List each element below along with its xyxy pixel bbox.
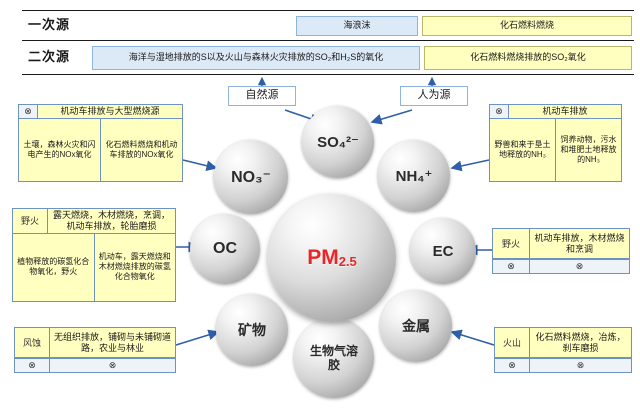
sphere-pm25-center[interactable]: PM2.5 <box>268 194 396 322</box>
panel-mineral-header: 风蚀 无组织排放，铺砌与未铺砌道路，农业与林业 <box>15 328 175 358</box>
secondary-source-so2-oxidation[interactable]: 化石燃料燃烧排放的SO₂氧化 <box>424 46 632 70</box>
sphere-no3-label: NO₃⁻ <box>231 167 271 187</box>
panel-nh4-cell-natural: 野兽和来于垦土地释放的NH₃ <box>490 119 556 181</box>
panel-mineral-xrow: ⊗ ⊗ <box>15 358 175 372</box>
panel-oc[interactable]: 野火 露天燃烧，木材燃烧，烹调，机动车排放，轮胎磨损 植物释放的碳氢化合物氧化，… <box>12 208 176 302</box>
panel-oc-title: 露天燃烧，木材燃烧，烹调，机动车排放，轮胎磨损 <box>48 209 175 233</box>
panel-metal-title: 化石燃料燃烧，冶炼，刹车磨损 <box>530 328 631 357</box>
panel-mineral[interactable]: 风蚀 无组织排放，铺砌与未铺砌道路，农业与林业 ⊗ ⊗ <box>14 327 176 373</box>
panel-no3-body: 土壤，森林火灾和闪电产生的NOx氧化 化石燃料燃烧和机动车排放的NOx氧化 <box>19 119 182 181</box>
panel-no3-title: 机动车排放与大型燃烧源 <box>38 105 182 118</box>
diagram-canvas: 一次源 二次源 海浪沫 化石燃料燃烧 海洋与湿地排放的S以及火山与森林火灾排放的… <box>0 0 640 412</box>
panel-metal-x-right: ⊗ <box>530 359 631 372</box>
primary-source-fossil-fuel[interactable]: 化石燃料燃烧 <box>422 16 632 36</box>
panel-no3-x-icon: ⊗ <box>19 105 38 118</box>
panel-no3-header: ⊗ 机动车排放与大型燃烧源 <box>19 105 182 119</box>
sphere-bioaerosol[interactable]: 生物气溶胶 <box>294 318 374 398</box>
panel-ec-header: 野火 机动车排放，木材燃烧和烹调 <box>493 229 629 259</box>
panel-oc-header: 野火 露天燃烧，木材燃烧，烹调，机动车排放，轮胎磨损 <box>13 209 175 234</box>
pm25-main: PM <box>307 246 339 269</box>
sphere-nh4-label: NH₄⁺ <box>396 167 433 185</box>
sphere-nh4[interactable]: NH₄⁺ <box>378 140 450 212</box>
panel-nh4[interactable]: ⊗ 机动车排放 野兽和来于垦土地释放的NH₃ 饲养动物，污水和堆肥土地释放的NH… <box>489 104 622 182</box>
divider-top <box>22 10 634 11</box>
panel-oc-cell-anthropogenic: 机动车，露天燃烧和木材燃烧排放的碳氢化合物氧化 <box>95 234 176 301</box>
panel-ec-title: 机动车排放，木材燃烧和烹调 <box>530 229 629 258</box>
panel-metal-x-left: ⊗ <box>495 359 530 372</box>
sphere-oc-label: OC <box>213 240 237 258</box>
sphere-metal[interactable]: 金属 <box>380 290 452 362</box>
panel-oc-body: 植物释放的碳氢化合物氧化，野火 机动车，露天燃烧和木材燃烧排放的碳氢化合物氧化 <box>13 234 175 301</box>
secondary-source-ocean-wetland[interactable]: 海洋与湿地排放的S以及火山与森林火灾排放的SO₂和H₂S的氧化 <box>92 46 420 70</box>
sphere-ec[interactable]: EC <box>410 218 476 284</box>
panel-ec-header-label: 野火 <box>493 229 530 258</box>
sphere-so4[interactable]: SO₄²⁻ <box>302 106 374 178</box>
panel-ec[interactable]: 野火 机动车排放，木材燃烧和烹调 ⊗ ⊗ <box>492 228 630 274</box>
panel-nh4-title: 机动车排放 <box>509 105 621 118</box>
sphere-metal-label: 金属 <box>402 316 430 336</box>
panel-metal-header-label: 火山 <box>495 328 530 357</box>
primary-source-sea-spray[interactable]: 海浪沫 <box>296 16 418 36</box>
panel-oc-header-label: 野火 <box>13 209 48 233</box>
panel-no3[interactable]: ⊗ 机动车排放与大型燃烧源 土壤，森林火灾和闪电产生的NOx氧化 化石燃料燃烧和… <box>18 104 183 182</box>
row-label-primary: 一次源 <box>28 14 70 33</box>
tag-natural-source[interactable]: 自然源 <box>228 86 296 106</box>
panel-nh4-x-icon: ⊗ <box>490 105 509 118</box>
panel-ec-x-right: ⊗ <box>530 260 629 273</box>
panel-nh4-cell-anthropogenic: 饲养动物，污水和堆肥土地释放的NH₃ <box>556 119 621 181</box>
panel-mineral-x-right: ⊗ <box>50 359 175 372</box>
sphere-ec-label: EC <box>433 243 454 260</box>
panel-metal-header: 火山 化石燃料燃烧，冶炼，刹车磨损 <box>495 328 631 358</box>
sphere-bioaerosol-label: 生物气溶胶 <box>309 344 359 373</box>
panel-no3-cell-anthropogenic: 化石燃料燃烧和机动车排放的NOx氧化 <box>101 119 182 181</box>
panel-mineral-title: 无组织排放，铺砌与未铺砌道路，农业与林业 <box>50 328 175 357</box>
sphere-mineral-label: 矿物 <box>238 320 266 340</box>
divider-bottom <box>22 74 634 75</box>
sphere-oc[interactable]: OC <box>190 214 260 284</box>
panel-metal-xrow: ⊗ ⊗ <box>495 358 631 372</box>
sphere-no3[interactable]: NO₃⁻ <box>214 140 288 214</box>
tag-anthropogenic-source[interactable]: 人为源 <box>400 86 468 106</box>
divider-middle <box>22 40 634 41</box>
panel-metal[interactable]: 火山 化石燃料燃烧，冶炼，刹车磨损 ⊗ ⊗ <box>494 327 632 373</box>
sphere-so4-label: SO₄²⁻ <box>317 133 359 151</box>
pm25-label: PM2.5 <box>307 246 357 270</box>
panel-mineral-header-label: 风蚀 <box>15 328 50 357</box>
panel-ec-x-left: ⊗ <box>493 260 530 273</box>
panel-mineral-x-left: ⊗ <box>15 359 50 372</box>
panel-oc-cell-natural: 植物释放的碳氢化合物氧化，野火 <box>13 234 95 301</box>
panel-nh4-header: ⊗ 机动车排放 <box>490 105 621 119</box>
row-label-secondary: 二次源 <box>28 46 70 65</box>
panel-no3-cell-natural: 土壤，森林火灾和闪电产生的NOx氧化 <box>19 119 101 181</box>
panel-ec-xrow: ⊗ ⊗ <box>493 259 629 273</box>
pm25-sub: 2.5 <box>339 254 357 269</box>
sphere-mineral[interactable]: 矿物 <box>216 294 288 366</box>
panel-nh4-body: 野兽和来于垦土地释放的NH₃ 饲养动物，污水和堆肥土地释放的NH₃ <box>490 119 621 181</box>
